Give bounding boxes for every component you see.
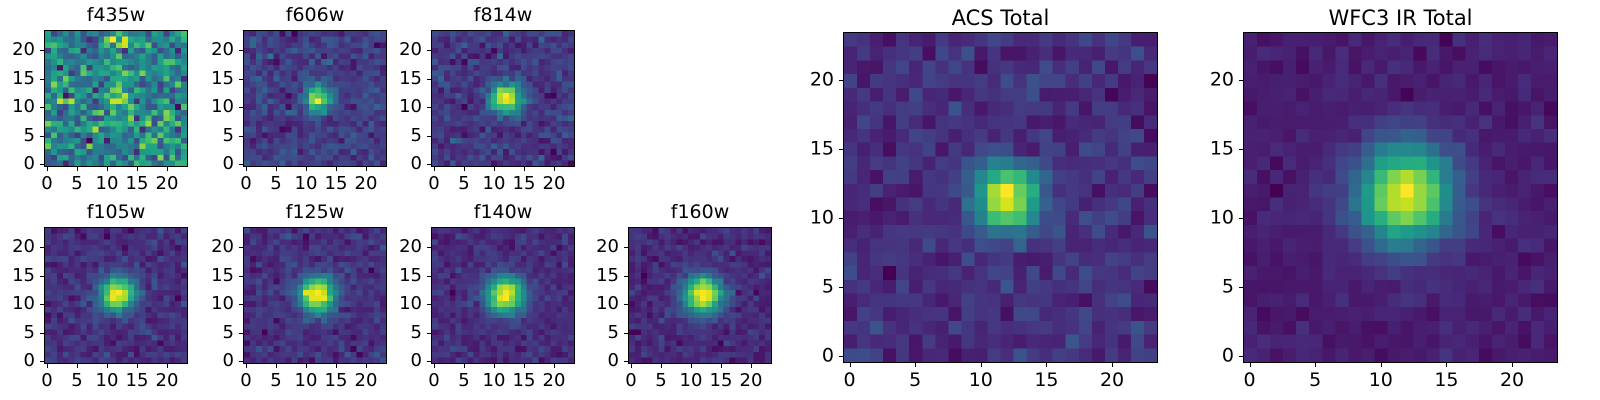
image-axes	[243, 30, 387, 167]
panel-wfc3-ir-total: WFC3 IR Total0055101015152020	[1183, 6, 1558, 397]
x-tick	[336, 167, 337, 171]
image-axes	[243, 227, 387, 364]
x-tick-label: 20	[740, 372, 763, 390]
y-tick-label: 5	[411, 127, 422, 145]
x-tick	[47, 167, 48, 171]
x-tick	[1381, 363, 1382, 367]
y-tick-label: 5	[24, 324, 35, 342]
panel-f435w: f435w0055101015152020	[0, 4, 188, 201]
y-tick	[1239, 356, 1243, 357]
panel-acs-total: ACS Total0055101015152020	[783, 6, 1158, 397]
x-tick-label: 10	[295, 372, 318, 390]
y-tick	[239, 107, 243, 108]
y-tick	[40, 333, 44, 334]
x-tick	[276, 167, 277, 171]
panel-title: f105w	[44, 203, 188, 222]
x-tick	[1446, 363, 1447, 367]
y-tick-label: 15	[399, 267, 422, 285]
y-tick	[239, 247, 243, 248]
panel-title: WFC3 IR Total	[1243, 8, 1558, 29]
image-axes	[44, 30, 188, 167]
x-tick	[107, 364, 108, 368]
x-tick	[524, 364, 525, 368]
y-tick	[239, 276, 243, 277]
x-tick	[751, 364, 752, 368]
image-axes	[431, 227, 575, 364]
x-tick	[524, 167, 525, 171]
y-tick-label: 20	[596, 238, 619, 256]
y-tick	[839, 218, 843, 219]
panel-title: f435w	[44, 6, 188, 25]
x-tick	[554, 364, 555, 368]
panel-title: ACS Total	[843, 8, 1158, 29]
x-tick-label: 10	[96, 372, 119, 390]
y-tick-label: 0	[223, 155, 234, 173]
x-tick	[137, 167, 138, 171]
panel-title: f160w	[628, 203, 772, 222]
y-tick	[839, 149, 843, 150]
x-tick	[276, 364, 277, 368]
x-tick	[137, 364, 138, 368]
x-tick	[494, 364, 495, 368]
y-tick	[239, 304, 243, 305]
y-tick-label: 10	[211, 98, 234, 116]
y-tick	[624, 276, 628, 277]
y-tick-label: 15	[810, 140, 834, 159]
y-tick	[239, 361, 243, 362]
y-tick-label: 10	[596, 295, 619, 313]
y-tick	[40, 361, 44, 362]
y-tick-label: 0	[608, 352, 619, 370]
y-tick-label: 5	[223, 127, 234, 145]
x-tick	[434, 167, 435, 171]
y-tick-label: 0	[1222, 347, 1234, 366]
y-tick	[239, 333, 243, 334]
image-axes	[1243, 32, 1558, 363]
x-tick-label: 0	[625, 372, 636, 390]
y-tick	[40, 247, 44, 248]
y-tick-label: 5	[608, 324, 619, 342]
x-tick-label: 20	[543, 175, 566, 193]
x-tick	[554, 167, 555, 171]
x-tick	[246, 364, 247, 368]
x-tick	[1250, 363, 1251, 367]
heatmap-image	[432, 31, 574, 166]
y-tick	[839, 287, 843, 288]
y-tick-label: 10	[1210, 209, 1234, 228]
y-tick	[427, 361, 431, 362]
heatmap-image	[432, 228, 574, 363]
y-tick-label: 5	[1222, 278, 1234, 297]
panel-f606w: f606w0055101015152020	[183, 4, 387, 201]
x-tick-label: 5	[458, 372, 469, 390]
y-tick	[1239, 218, 1243, 219]
x-tick-label: 5	[1309, 371, 1321, 390]
x-tick-label: 5	[71, 175, 82, 193]
image-axes	[44, 227, 188, 364]
x-tick-label: 5	[270, 372, 281, 390]
x-tick-label: 15	[513, 372, 536, 390]
x-tick-label: 0	[240, 372, 251, 390]
heatmap-image	[1244, 33, 1557, 362]
x-tick	[366, 167, 367, 171]
x-tick	[167, 364, 168, 368]
x-tick	[661, 364, 662, 368]
y-tick-label: 10	[12, 98, 35, 116]
y-tick-label: 20	[211, 41, 234, 59]
x-tick-label: 20	[1100, 371, 1124, 390]
y-tick	[1239, 80, 1243, 81]
panel-f125w: f125w0055101015152020	[183, 201, 387, 398]
x-tick	[77, 167, 78, 171]
y-tick	[239, 50, 243, 51]
y-tick-label: 15	[596, 267, 619, 285]
x-tick-label: 20	[1500, 371, 1524, 390]
y-tick	[239, 79, 243, 80]
x-tick-label: 0	[41, 372, 52, 390]
panel-f105w: f105w0055101015152020	[0, 201, 188, 398]
x-tick-label: 10	[680, 372, 703, 390]
y-tick	[40, 50, 44, 51]
y-tick	[839, 80, 843, 81]
y-tick-label: 5	[223, 324, 234, 342]
x-tick-label: 0	[41, 175, 52, 193]
y-tick-label: 15	[211, 70, 234, 88]
x-tick	[47, 364, 48, 368]
y-tick	[427, 333, 431, 334]
heatmap-image	[244, 228, 386, 363]
x-tick-label: 5	[655, 372, 666, 390]
x-tick	[246, 167, 247, 171]
x-tick	[981, 363, 982, 367]
x-tick	[494, 167, 495, 171]
y-tick-label: 20	[399, 41, 422, 59]
y-tick-label: 20	[12, 41, 35, 59]
x-tick-label: 10	[295, 175, 318, 193]
x-tick	[1512, 363, 1513, 367]
y-tick	[839, 356, 843, 357]
y-tick	[427, 79, 431, 80]
heatmap-image	[244, 31, 386, 166]
x-tick	[167, 167, 168, 171]
x-tick-label: 20	[156, 372, 179, 390]
x-tick	[1046, 363, 1047, 367]
y-tick	[40, 79, 44, 80]
x-tick-label: 15	[325, 175, 348, 193]
y-tick-label: 20	[12, 238, 35, 256]
image-axes	[628, 227, 772, 364]
y-tick	[40, 107, 44, 108]
panel-title: f125w	[243, 203, 387, 222]
x-tick-label: 15	[325, 372, 348, 390]
y-tick-label: 15	[12, 70, 35, 88]
y-tick-label: 15	[1210, 140, 1234, 159]
y-tick	[427, 247, 431, 248]
heatmap-image	[45, 31, 187, 166]
x-tick-label: 0	[428, 175, 439, 193]
panel-title: f140w	[431, 203, 575, 222]
x-tick-label: 5	[71, 372, 82, 390]
x-tick-label: 5	[270, 175, 281, 193]
x-tick	[464, 167, 465, 171]
y-tick-label: 15	[399, 70, 422, 88]
y-tick	[1239, 149, 1243, 150]
y-tick-label: 0	[411, 352, 422, 370]
y-tick	[427, 50, 431, 51]
x-tick	[721, 364, 722, 368]
y-tick	[40, 276, 44, 277]
y-tick	[427, 164, 431, 165]
x-tick	[1112, 363, 1113, 367]
heatmap-image	[844, 33, 1157, 362]
y-tick-label: 20	[810, 71, 834, 90]
x-tick-label: 20	[543, 372, 566, 390]
x-tick-label: 10	[96, 175, 119, 193]
y-tick	[427, 304, 431, 305]
y-tick-label: 20	[1210, 71, 1234, 90]
x-tick	[77, 364, 78, 368]
x-tick	[306, 167, 307, 171]
y-tick-label: 10	[12, 295, 35, 313]
x-tick-label: 10	[483, 175, 506, 193]
y-tick	[40, 136, 44, 137]
x-tick-label: 15	[126, 175, 149, 193]
x-tick-label: 5	[909, 371, 921, 390]
heatmap-image	[629, 228, 771, 363]
y-tick	[624, 247, 628, 248]
y-tick-label: 10	[399, 295, 422, 313]
y-tick	[427, 107, 431, 108]
x-tick	[464, 364, 465, 368]
x-tick-label: 15	[513, 175, 536, 193]
y-tick-label: 0	[822, 347, 834, 366]
y-tick-label: 15	[12, 267, 35, 285]
x-tick-label: 0	[844, 371, 856, 390]
y-tick	[427, 276, 431, 277]
y-tick-label: 5	[822, 278, 834, 297]
x-tick-label: 15	[126, 372, 149, 390]
panel-f160w: f160w0055101015152020	[568, 201, 772, 398]
y-tick-label: 10	[810, 209, 834, 228]
x-tick-label: 5	[458, 175, 469, 193]
y-tick	[40, 304, 44, 305]
y-tick-label: 20	[399, 238, 422, 256]
y-tick-label: 0	[223, 352, 234, 370]
y-tick	[624, 304, 628, 305]
x-tick	[434, 364, 435, 368]
y-tick	[239, 164, 243, 165]
x-tick	[915, 363, 916, 367]
x-tick	[366, 364, 367, 368]
y-tick	[239, 136, 243, 137]
panel-title: f814w	[431, 6, 575, 25]
x-tick-label: 15	[710, 372, 733, 390]
x-tick	[850, 363, 851, 367]
y-tick-label: 5	[24, 127, 35, 145]
image-axes	[843, 32, 1158, 363]
x-tick-label: 15	[1434, 371, 1458, 390]
x-tick	[107, 167, 108, 171]
x-tick-label: 10	[1369, 371, 1393, 390]
x-tick-label: 0	[240, 175, 251, 193]
y-tick-label: 10	[211, 295, 234, 313]
x-tick-label: 10	[969, 371, 993, 390]
y-tick	[40, 164, 44, 165]
panel-f814w: f814w0055101015152020	[371, 4, 575, 201]
y-tick-label: 0	[24, 155, 35, 173]
image-axes	[431, 30, 575, 167]
x-tick-label: 15	[1034, 371, 1058, 390]
x-tick	[1315, 363, 1316, 367]
y-tick	[427, 136, 431, 137]
x-tick-label: 20	[156, 175, 179, 193]
y-tick-label: 15	[211, 267, 234, 285]
x-tick-label: 0	[1244, 371, 1256, 390]
y-tick	[1239, 287, 1243, 288]
y-tick-label: 5	[411, 324, 422, 342]
panel-f140w: f140w0055101015152020	[371, 201, 575, 398]
y-tick-label: 0	[24, 352, 35, 370]
heatmap-image	[45, 228, 187, 363]
y-tick	[624, 333, 628, 334]
x-tick	[691, 364, 692, 368]
y-tick-label: 20	[211, 238, 234, 256]
x-tick	[631, 364, 632, 368]
figure-canvas: f435w0055101015152020f606w00551010151520…	[0, 0, 1600, 400]
y-tick-label: 0	[411, 155, 422, 173]
x-tick	[306, 364, 307, 368]
x-tick-label: 0	[428, 372, 439, 390]
x-tick	[336, 364, 337, 368]
y-tick-label: 10	[399, 98, 422, 116]
panel-title: f606w	[243, 6, 387, 25]
y-tick	[624, 361, 628, 362]
x-tick-label: 10	[483, 372, 506, 390]
